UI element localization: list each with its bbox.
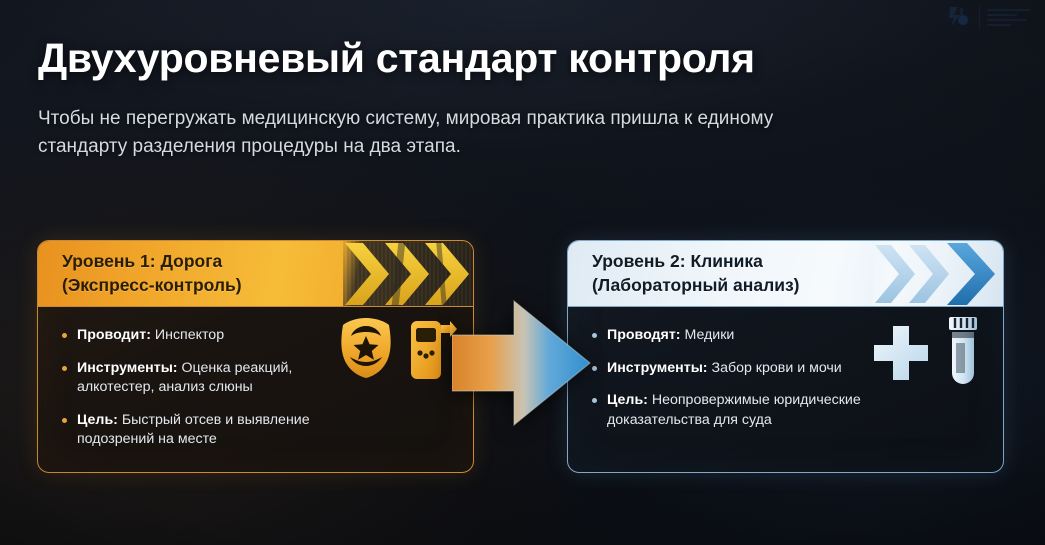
bullet-key: Проводит: — [77, 327, 151, 343]
logo-divider — [979, 6, 980, 28]
flow-arrow-level1-to-level2 — [452, 293, 592, 433]
list-item: Цель: Неопровержимые юридические доказат… — [590, 391, 890, 430]
card-level-1[interactable]: Уровень 1: Дорога (Экспресс-контроль) — [37, 240, 474, 473]
bullet-key: Инструменты: — [607, 360, 708, 376]
brand-watermark-logo — [946, 4, 1031, 30]
bullet-value: Забор крови и мочи — [712, 360, 842, 376]
page-title: Двухуровневый стандарт контроля — [38, 35, 755, 82]
slide-root: Двухуровневый стандарт контроля Чтобы не… — [0, 0, 1045, 545]
card-level-2-title: Уровень 2: Клиника (Лабораторный анализ) — [592, 250, 800, 297]
card-level-1-bullets: Проводит: Инспектор Инструменты: Оценка … — [60, 326, 451, 450]
card-level-1-header: Уровень 1: Дорога (Экспресс-контроль) — [38, 241, 473, 307]
list-item: Инструменты: Оценка реакций, алкотестер,… — [60, 359, 360, 398]
list-item: Цель: Быстрый отсев и выявление подозрен… — [60, 411, 360, 450]
card-level-1-title: Уровень 1: Дорога (Экспресс-контроль) — [62, 250, 242, 297]
card-level-1-body: Проводит: Инспектор Инструменты: Оценка … — [38, 307, 473, 472]
list-item: Проводит: Инспектор — [60, 326, 360, 346]
logo-mark-icon — [946, 4, 972, 30]
list-item: Проводят: Медики — [590, 326, 890, 346]
blue-chevron-strip — [873, 241, 1003, 306]
bullet-key: Цель: — [77, 412, 118, 428]
card-level-2-bullets: Проводят: Медики Инструменты: Забор кров… — [590, 326, 981, 430]
card-level-2-body: Проводят: Медики Инструменты: Забор кров… — [568, 307, 1003, 472]
page-subtitle: Чтобы не перегружать медицинскую систему… — [38, 105, 798, 161]
bullet-value: Инспектор — [155, 327, 224, 343]
card-level-2-header: Уровень 2: Клиника (Лабораторный анализ) — [568, 241, 1003, 307]
bullet-key: Инструменты: — [77, 360, 178, 376]
logo-wordmark — [987, 9, 1031, 26]
card-level-2[interactable]: Уровень 2: Клиника (Лабораторный анализ) — [567, 240, 1004, 473]
list-item: Инструменты: Забор крови и мочи — [590, 359, 890, 379]
bullet-value: Медики — [684, 327, 734, 343]
bullet-key: Проводят: — [607, 327, 681, 343]
bullet-key: Цель: — [607, 392, 648, 408]
